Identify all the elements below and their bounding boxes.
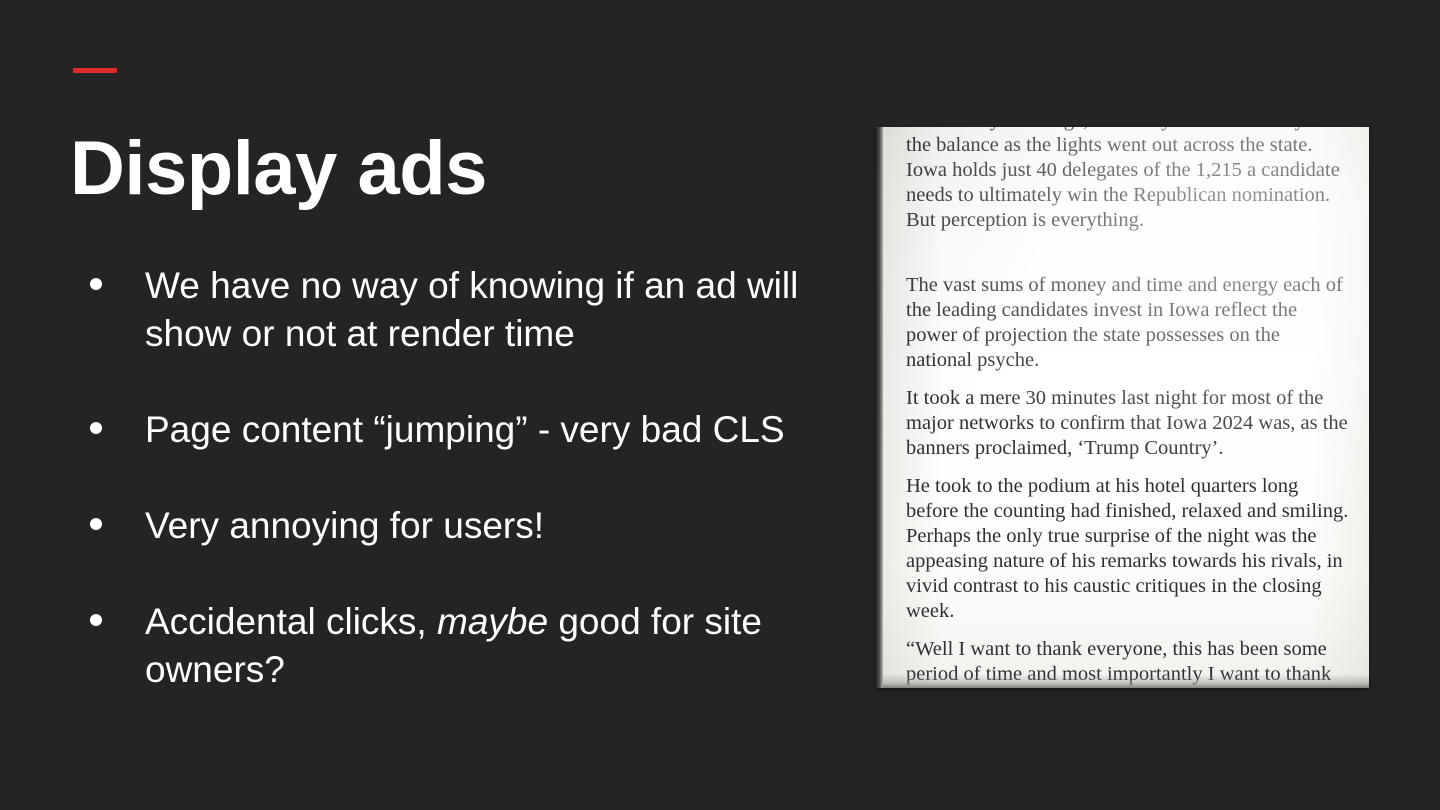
- clipping-paragraph: He took to the podium at his hotel quart…: [906, 474, 1349, 624]
- bullet-dot-icon: [90, 422, 102, 434]
- list-item: Page content “jumping” - very bad CLS: [80, 406, 870, 454]
- bullet-item-label: Very annoying for users!: [145, 502, 870, 550]
- bullet-dot-icon: [90, 614, 102, 626]
- bullet-dot-icon: [90, 278, 102, 290]
- page-title: Display ads: [70, 129, 487, 209]
- bullet-item-label: Page content “jumping” - very bad CLS: [145, 406, 870, 454]
- clipping-article-text: counties by that stage, with only Johnso…: [906, 127, 1349, 688]
- newspaper-clipping-image: counties by that stage, with only Johnso…: [876, 127, 1369, 688]
- slide-canvas: Display ads We have no way of knowing if…: [0, 0, 1440, 810]
- clipping-paragraph: counties by that stage, with only Johnso…: [906, 127, 1349, 233]
- bullet-text-emphasis: maybe: [437, 601, 548, 642]
- clipping-paragraph: The vast sums of money and time and ener…: [906, 273, 1349, 373]
- bullet-list: We have no way of knowing if an ad will …: [80, 262, 870, 695]
- list-item: Very annoying for users!: [80, 502, 870, 550]
- clipping-paragraph: It took a mere 30 minutes last night for…: [906, 386, 1349, 461]
- bullet-text-lead: Accidental clicks,: [145, 601, 437, 642]
- title-accent-rule: [73, 68, 117, 73]
- list-item: We have no way of knowing if an ad will …: [80, 262, 870, 358]
- bullet-item-label: Accidental clicks, maybe good for site o…: [145, 598, 870, 694]
- clipping-bottom-shadow: [883, 674, 1369, 688]
- bullet-dot-icon: [90, 518, 102, 530]
- bullet-item-label: We have no way of knowing if an ad will …: [145, 262, 870, 358]
- list-item: Accidental clicks, maybe good for site o…: [80, 598, 870, 694]
- clipping-page-edge: [876, 127, 883, 688]
